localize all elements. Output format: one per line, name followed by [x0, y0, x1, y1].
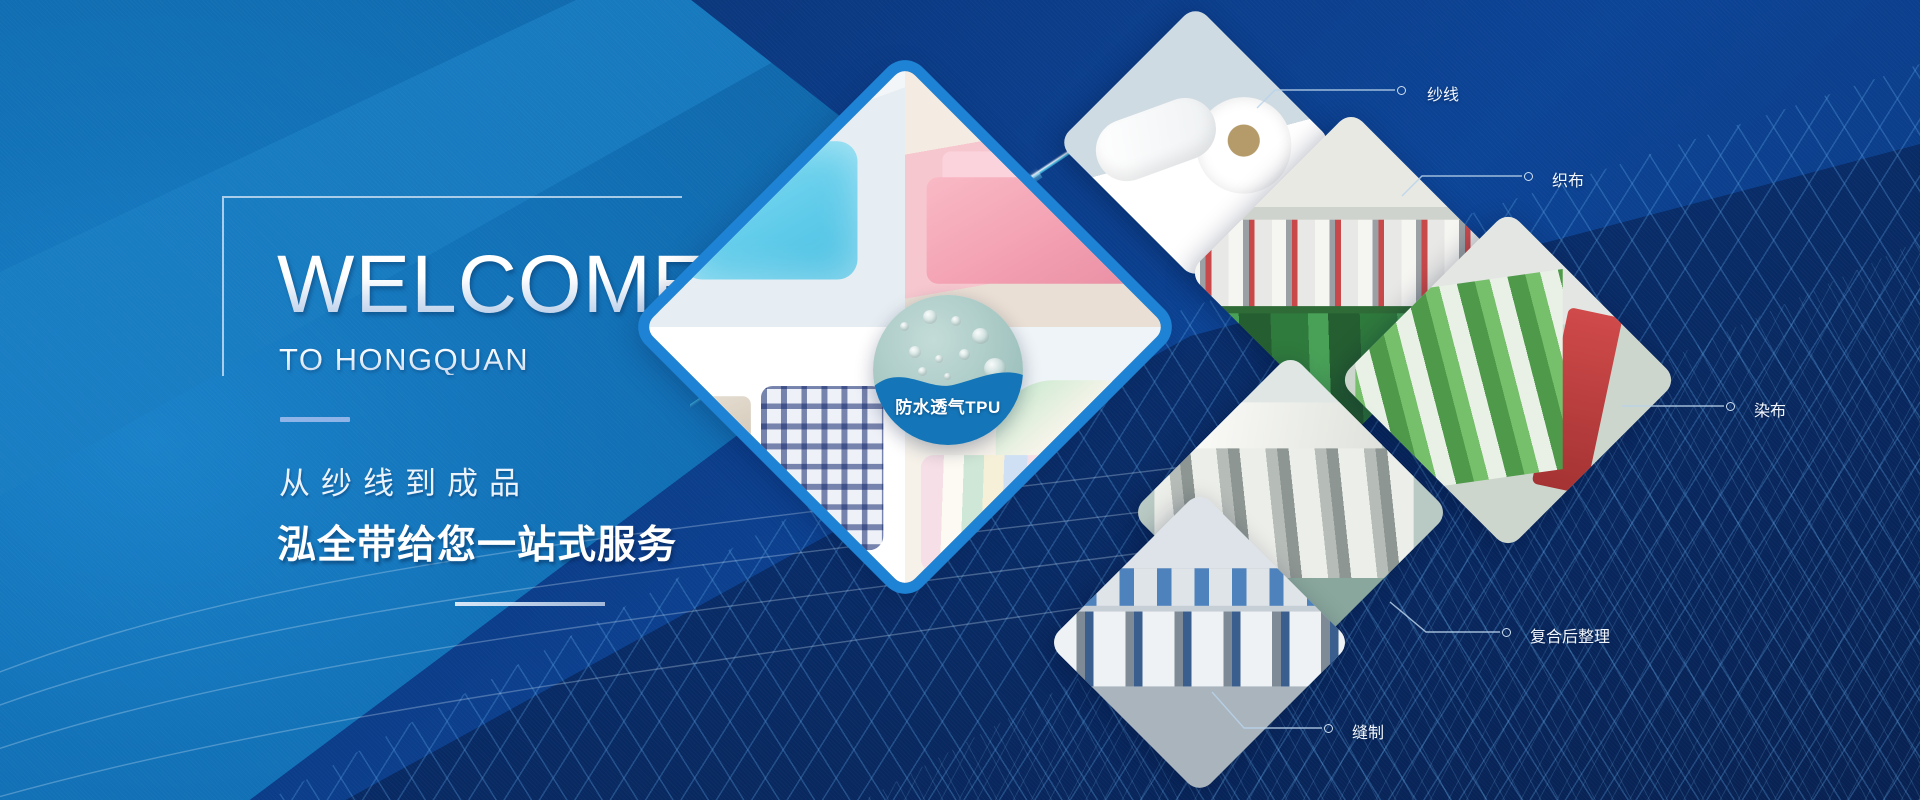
process-label-lamination: 复合后整理 [1530, 623, 1610, 647]
background-wave-lines [0, 420, 1240, 800]
tpu-badge-label: 防水透气TPU [873, 393, 1023, 418]
tpu-feature-badge: 防水透气TPU [873, 295, 1023, 445]
page-title: WELCOME [277, 244, 708, 326]
connector-weaving: 织布 [1400, 150, 1730, 200]
connector-yarn: 纱线 [1255, 62, 1585, 112]
connector-dot-weaving [1524, 172, 1533, 181]
connector-sewing: 缝制 [1210, 690, 1540, 750]
process-label-weaving: 织布 [1552, 167, 1584, 191]
headline-chinese: 泓全带给您一站式服务 [277, 514, 677, 570]
connector-line-yarn [1255, 62, 1585, 112]
bottom-divider-rule [455, 602, 605, 606]
connector-dot-lamination [1502, 628, 1511, 637]
connector-dot-sewing [1324, 724, 1333, 733]
tagline-chinese: 从纱线到成品 [279, 458, 531, 503]
hero-banner: WELCOME TO HONGQUAN 从纱线到成品 泓全带给您一站式服务 [0, 0, 1920, 800]
process-label-dyeing: 染布 [1754, 397, 1786, 421]
page-subtitle: TO HONGQUAN [279, 344, 529, 375]
connector-lamination: 复合后整理 [1388, 590, 1788, 650]
accent-divider [280, 417, 350, 422]
process-label-sewing: 缝制 [1352, 719, 1384, 743]
connector-dot-dyeing [1726, 402, 1735, 411]
connector-dyeing: 染布 [1620, 382, 1920, 432]
connector-dot-yarn [1397, 86, 1406, 95]
process-label-yarn: 纱线 [1427, 81, 1459, 105]
